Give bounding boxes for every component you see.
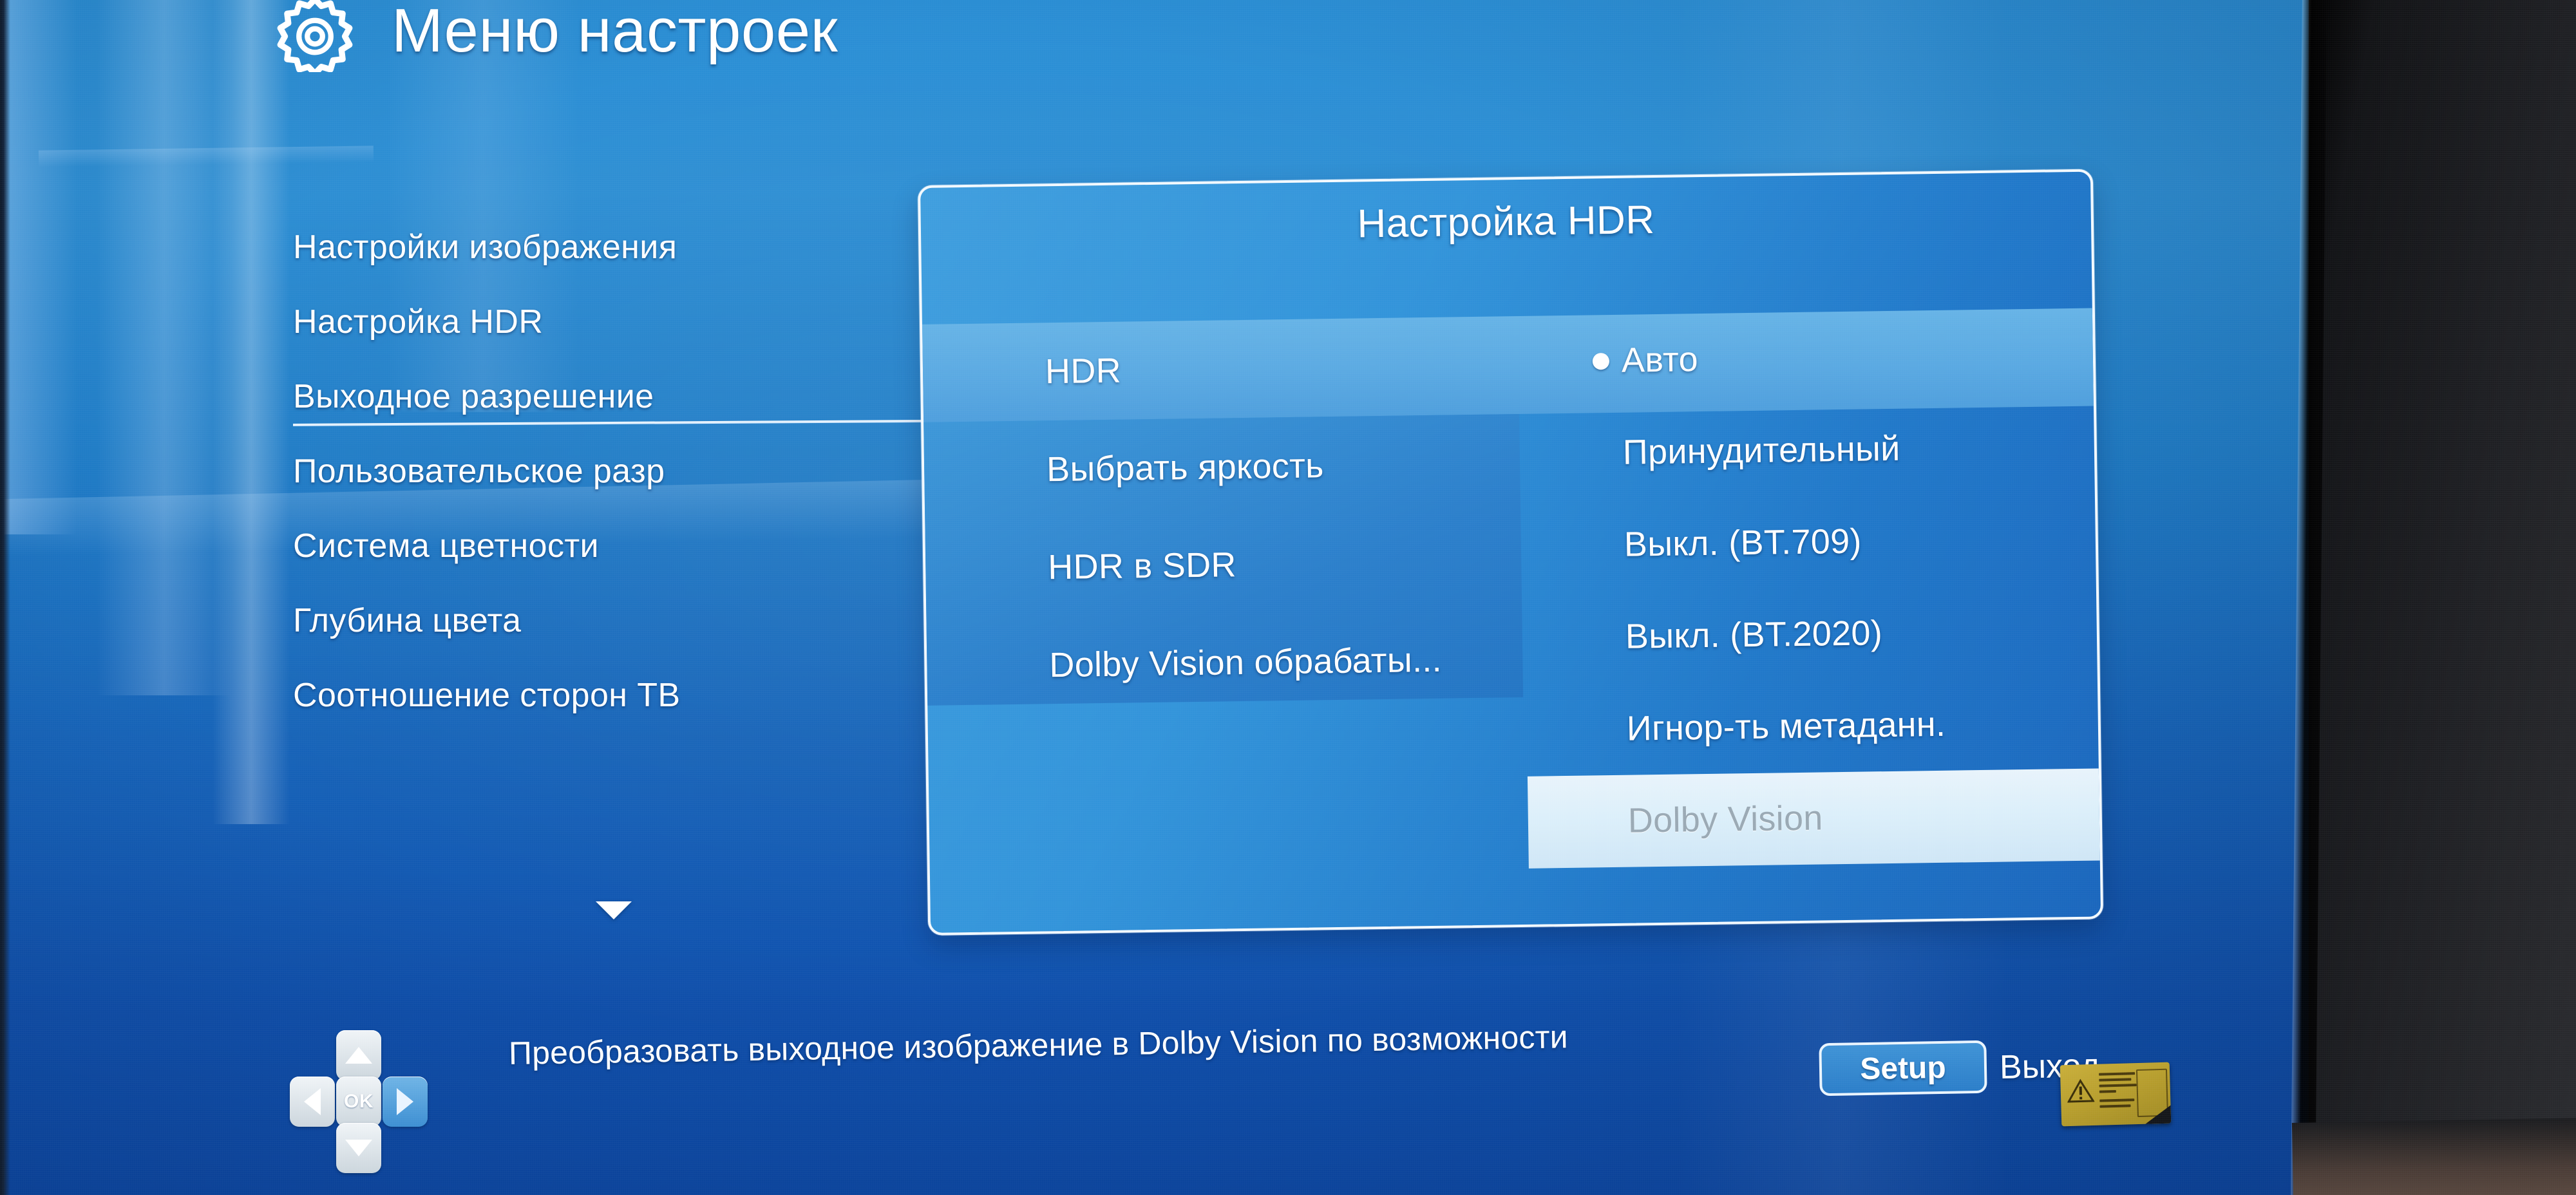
triangle-right-icon (397, 1088, 413, 1115)
sidebar-item-picture-settings[interactable]: Настройки изображения (293, 229, 937, 266)
sidebar-item-color-depth[interactable]: Глубина цвета (293, 602, 937, 639)
sticker-corner-shadow (2145, 1106, 2172, 1124)
screen-glare (213, 0, 290, 824)
dialog-title: Настройка HDR (920, 190, 2091, 255)
option-off-bt709[interactable]: Выкл. (BT.709) (1524, 492, 2101, 592)
settings-list[interactable]: HDR Выбрать яркость HDR в SDR Dolby Visi… (1045, 316, 1539, 715)
option-label: Игнор-ть метаданн. (1626, 705, 1946, 748)
dpad-down-button[interactable] (336, 1123, 381, 1173)
dpad-up-button[interactable] (336, 1030, 381, 1080)
setting-row-hdr[interactable]: HDR (1045, 316, 1535, 421)
dpad-left-button[interactable] (290, 1077, 335, 1127)
option-label: Принудительный (1622, 429, 1900, 472)
chevron-down-icon[interactable] (596, 901, 632, 919)
sidebar-item-custom-resolution[interactable]: Пользовательское разр (293, 453, 937, 490)
options-list[interactable]: Авто Принудительный Выкл. (BT.709) Выкл.… (1521, 308, 2103, 868)
hdr-settings-dialog: Настройка HDR HDR Выбрать яркость HDR в … (918, 169, 2103, 936)
setting-row-select-brightness[interactable]: Выбрать яркость (1046, 414, 1537, 519)
gear-icon (277, 0, 353, 72)
setting-row-hdr-to-sdr[interactable]: HDR в SDR (1047, 512, 1538, 617)
sticker-text-lines (2099, 1072, 2140, 1111)
triangle-up-icon (345, 1047, 372, 1064)
dpad-right-button[interactable] (383, 1077, 428, 1127)
option-label: Авто (1621, 340, 1698, 380)
settings-sidebar[interactable]: Настройки изображения Настройка HDR Выхо… (293, 229, 937, 714)
option-label: Выкл. (BT.709) (1624, 522, 1862, 564)
spacer (293, 490, 937, 527)
option-off-bt2020[interactable]: Выкл. (BT.2020) (1525, 584, 2103, 684)
sidebar-item-color-system[interactable]: Система цветности (293, 527, 937, 565)
table-surface (2292, 1118, 2576, 1195)
spacer (293, 341, 937, 378)
setup-button[interactable]: Setup (1819, 1040, 1987, 1096)
screen-glare (0, 0, 77, 534)
spacer (293, 639, 937, 677)
ok-label: OK (344, 1091, 374, 1113)
dpad-ok-button[interactable]: OK (336, 1077, 381, 1127)
warning-sticker (2060, 1062, 2172, 1127)
sidebar-item-hdr-settings[interactable]: Настройка HDR (293, 303, 937, 341)
triangle-left-icon (304, 1088, 321, 1115)
tv-settings-photo: Меню настроек Настройки изображения Наст… (0, 0, 2576, 1195)
option-forced[interactable]: Принудительный (1522, 400, 2100, 500)
tv-screen: Меню настроек Настройки изображения Наст… (0, 0, 2318, 1195)
screen-glare (39, 146, 374, 167)
option-label: Выкл. (BT.2020) (1625, 614, 1882, 656)
tv-left-bezel (0, 0, 10, 1195)
option-ignore-metadata[interactable]: Игнор-ть метаданн. (1526, 676, 2103, 776)
sidebar-item-output-resolution[interactable]: Выходное разрешение (293, 378, 937, 415)
sidebar-item-tv-aspect-ratio[interactable]: Соотношение сторон ТВ (293, 677, 937, 714)
spacer (293, 266, 937, 303)
spacer (293, 565, 937, 602)
page-title: Меню настроек (392, 0, 838, 66)
dpad-cluster[interactable]: OK (290, 1030, 457, 1165)
triangle-down-icon (345, 1140, 372, 1156)
radio-selected-icon (1593, 353, 1609, 370)
screen-glare (97, 0, 232, 695)
setting-row-dolby-vision-proc[interactable]: Dolby Vision обрабаты... (1048, 610, 1539, 715)
option-label: Dolby Vision (1627, 798, 1823, 840)
warning-triangle-icon (2067, 1078, 2094, 1104)
option-dolby-vision[interactable]: Dolby Vision (1528, 768, 2103, 868)
page-header: Меню настроек (277, 0, 1243, 124)
room-background (2309, 0, 2576, 1195)
hint-text: Преобразовать выходное изображение в Dol… (509, 1013, 1797, 1073)
option-auto[interactable]: Авто (1521, 308, 2099, 408)
